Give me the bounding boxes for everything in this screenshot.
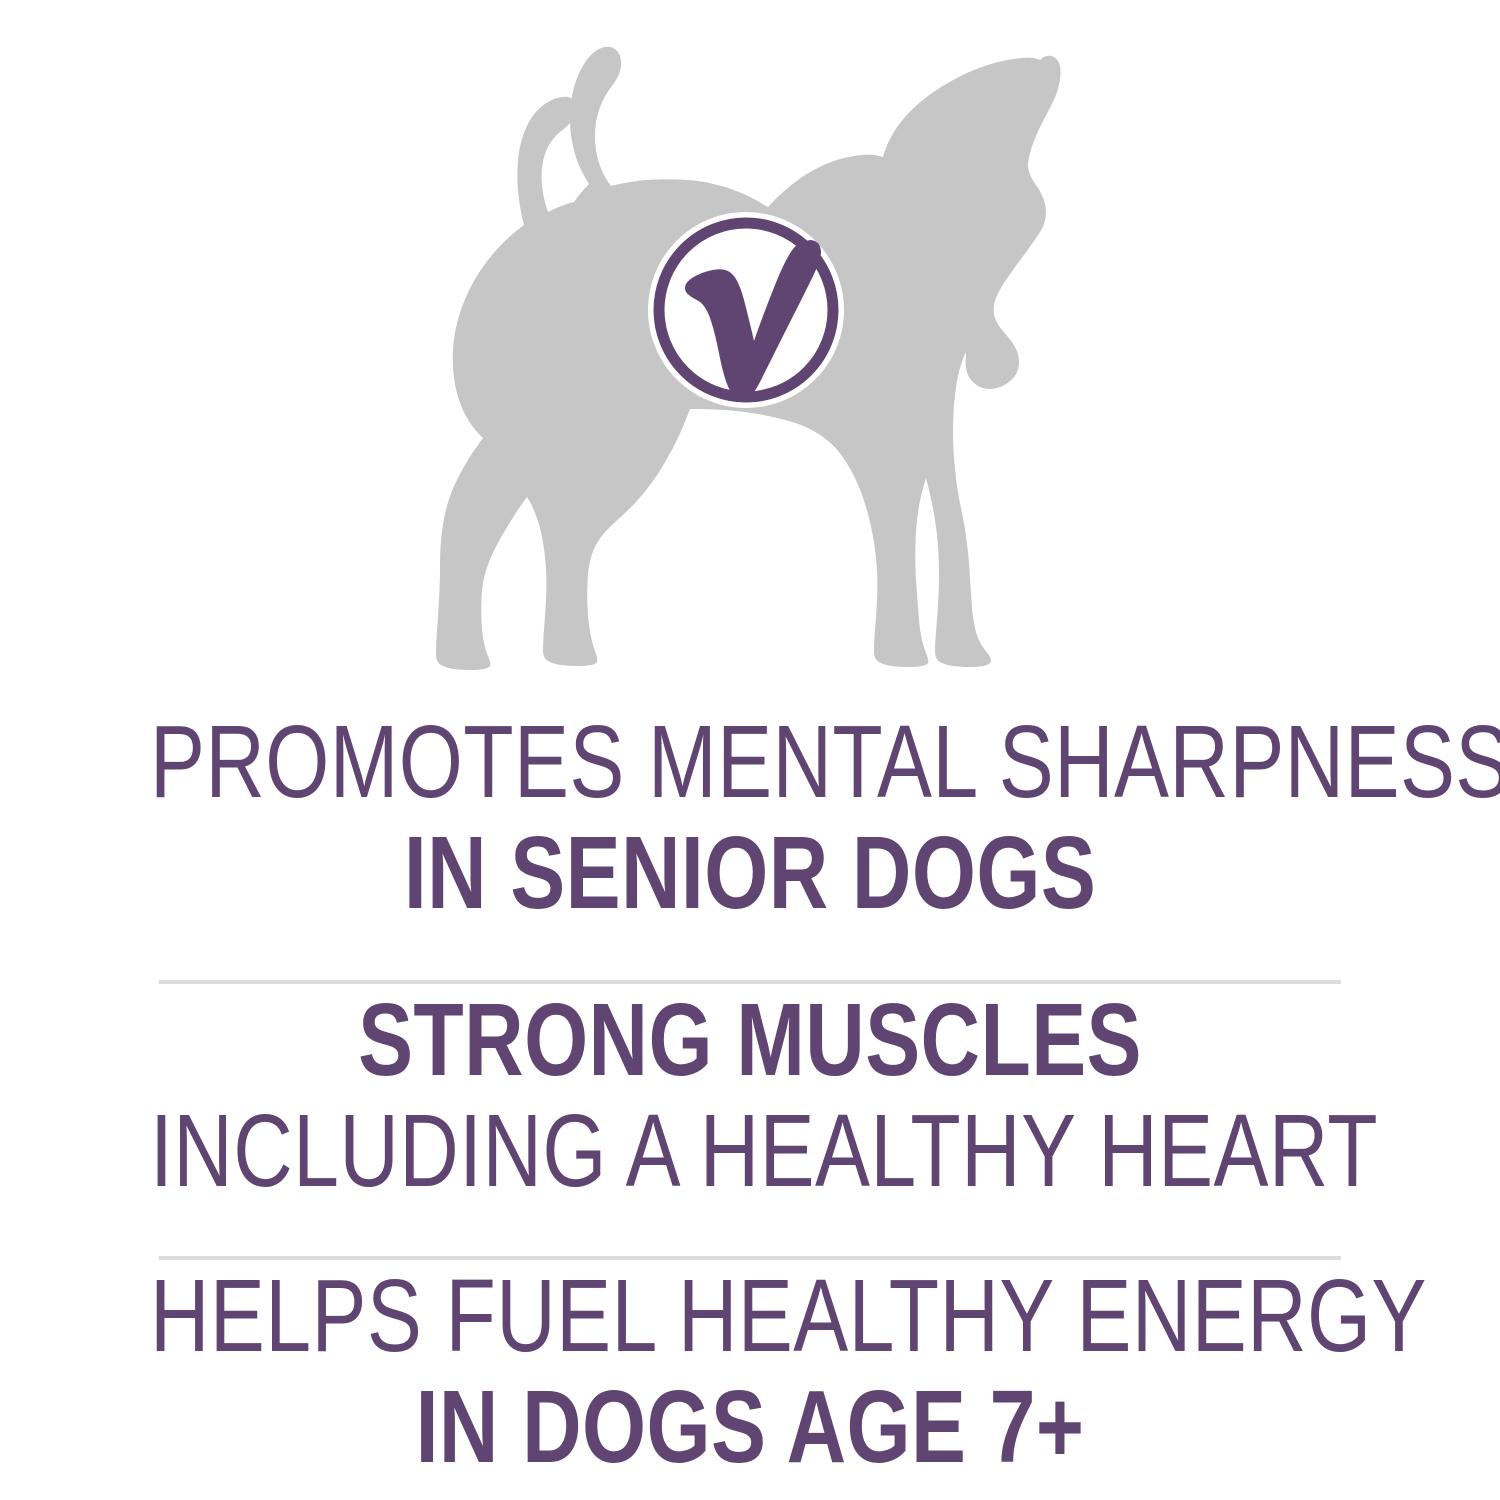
benefit-3-line-1: HELPS FUEL HEALTHY ENERGY xyxy=(150,1266,1350,1367)
benefit-2-line-2: INCLUDING A HEALTHY HEART xyxy=(150,1101,1350,1202)
dog-with-checkmark-illustration xyxy=(0,0,1500,690)
benefits-list: PROMOTES MENTAL SHARPNESS IN SENIOR DOGS… xyxy=(0,690,1500,1478)
benefit-2-line-1: STRONG MUSCLES xyxy=(150,990,1350,1091)
benefit-mental-sharpness: PROMOTES MENTAL SHARPNESS IN SENIOR DOGS xyxy=(0,712,1500,924)
checkmark-badge xyxy=(648,212,844,408)
product-benefits-infographic: PROMOTES MENTAL SHARPNESS IN SENIOR DOGS… xyxy=(0,0,1500,1500)
benefit-strong-muscles: STRONG MUSCLES INCLUDING A HEALTHY HEART xyxy=(0,990,1500,1202)
benefit-1-line-1: PROMOTES MENTAL SHARPNESS xyxy=(150,712,1350,813)
benefit-3-line-2: IN DOGS AGE 7+ xyxy=(150,1377,1350,1478)
benefit-1-line-2: IN SENIOR DOGS xyxy=(150,823,1350,924)
hero-graphic xyxy=(0,0,1500,690)
benefit-healthy-energy: HELPS FUEL HEALTHY ENERGY IN DOGS AGE 7+ xyxy=(0,1266,1500,1478)
